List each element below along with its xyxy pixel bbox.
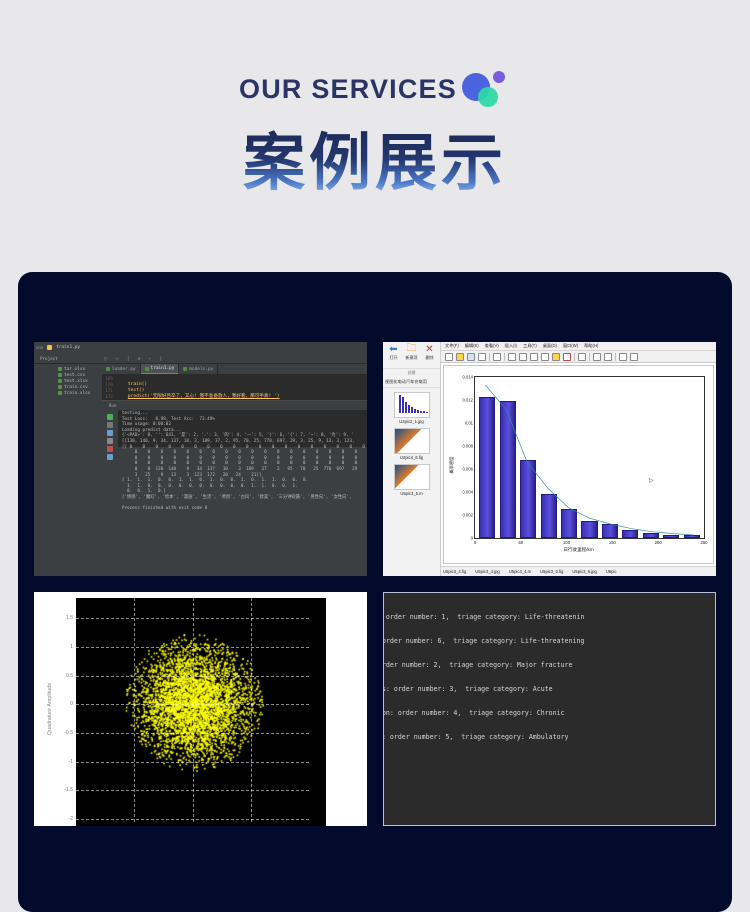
thumbnail-caption: U5pic3_5.m — [383, 491, 440, 496]
matlab-doc-thumb-icon — [394, 464, 430, 490]
zoom-in-icon[interactable] — [508, 353, 516, 361]
x-axis-label: 日行驶里程/km — [563, 547, 593, 553]
constellation-y-tick-label: -1.5 — [64, 787, 76, 793]
logo-green-circle-icon — [478, 87, 498, 107]
brush-icon[interactable] — [563, 353, 571, 361]
y-tick-label: 0.012 — [463, 398, 475, 403]
tab-loader-py[interactable]: loader.py — [102, 364, 141, 374]
pan-icon[interactable] — [530, 353, 538, 361]
x-tick-label: 0 — [474, 538, 476, 545]
property-editor-icon[interactable] — [630, 353, 638, 361]
grid-line-vertical — [193, 598, 194, 822]
terminal-line: rson: order number: 4, triage category: … — [383, 707, 715, 719]
tree-item-label: train.csv — [64, 385, 88, 390]
folder-icon: 🗀 — [404, 344, 419, 355]
menu-view[interactable]: 查看(V) — [485, 343, 499, 349]
menu-window[interactable]: 窗口(W) — [563, 343, 578, 349]
python-file-icon — [106, 367, 110, 371]
bar-chart-thumb-icon — [394, 392, 430, 418]
matlab-fig-thumb-icon — [394, 428, 430, 454]
mini-bars — [399, 395, 428, 413]
terminal-line: on: order number: 5, triage category: Am… — [383, 731, 715, 743]
file-strip-item[interactable]: U5pic4_4.m — [509, 569, 531, 574]
console-tab-label: Run — [109, 403, 117, 408]
menu-tools[interactable]: 工具(T) — [523, 343, 537, 349]
cursor-icon[interactable] — [493, 353, 501, 361]
terminal-line: h: order number: 1, triage category: Lif… — [383, 611, 715, 623]
terminal-line: order number: 2, triage category: Major … — [383, 659, 715, 671]
close-icon[interactable] — [107, 446, 113, 452]
terminal-line: t: — [383, 599, 715, 611]
ribbon-label: 新建项 — [406, 355, 418, 360]
toolbar-separator — [504, 353, 505, 361]
file-thumbnail[interactable]: U2pic2_1.jpg — [383, 392, 440, 424]
scatter-points — [76, 598, 326, 826]
python-file-icon — [145, 367, 149, 371]
tree-item-label: test.csv — [64, 373, 85, 378]
python-file-icon — [47, 345, 52, 350]
constellation-y-tick-label: -2 — [69, 816, 76, 822]
matlab-menubar[interactable]: 文件(F) 编辑(E) 查看(V) 插入(I) 工具(T) 桌面(D) 窗口(W… — [441, 342, 716, 351]
ide-window-title: train1.py — [56, 345, 80, 350]
code-lines[interactable]: train() test() predict('无限好吕卒了，又心! 我不准备放… — [116, 376, 280, 400]
terminal-line: t: — [383, 719, 715, 731]
python-file-icon — [183, 367, 187, 371]
matlab-figure-canvas[interactable]: 00.0020.0040.0060.0080.010.0120.014 0501… — [443, 365, 714, 564]
page-header: OUR SERVICES 案例展示 — [0, 0, 750, 197]
eyebrow-text: OUR SERVICES — [239, 66, 457, 112]
terminal-line: t: — [383, 623, 715, 635]
file-strip-item[interactable]: U5pic — [606, 569, 617, 574]
tab-label: models.py — [189, 367, 213, 372]
eyebrow-row: OUR SERVICES — [239, 66, 511, 112]
ide-body: tar.xlsx test.csv test.xlsx train.csv — [34, 364, 367, 411]
rotate-icon[interactable] — [541, 353, 549, 361]
terminal-output-text: t:h: order number: 1, triage category: L… — [383, 593, 715, 743]
x-tick-label: 50 — [518, 538, 523, 545]
constellation-y-tick-label: -1 — [69, 759, 76, 765]
file-strip-item[interactable]: U5pic3_4.fig — [443, 569, 466, 574]
ribbon-label: 打开 — [390, 355, 398, 360]
toolbar-separator — [574, 353, 575, 361]
ide-titlebar: one train1.py — [34, 342, 367, 353]
toolbar-separator — [615, 353, 616, 361]
tree-item-label: train.xlsx — [64, 391, 90, 396]
matlab-figure-window[interactable]: 文件(F) 编辑(E) 查看(V) 插入(I) 工具(T) 桌面(D) 窗口(W… — [441, 342, 716, 576]
thumbnail-caption: U2pic2_1.jpg — [383, 419, 440, 424]
matlab-ribbon[interactable]: ⬅ 打开 🗀 新建项 ✕ 删除 — [383, 342, 440, 368]
back-arrow-icon: ⬅ — [386, 344, 401, 355]
xlsx-file-icon — [58, 391, 62, 395]
y-tick-label: 0.014 — [463, 375, 475, 380]
data-cursor-icon[interactable] — [552, 353, 560, 361]
x-tick-label: 150 — [609, 538, 616, 545]
menu-edit[interactable]: 编辑(E) — [465, 343, 479, 349]
thumbnail-caption: U2pic4_6.fig — [383, 455, 440, 460]
console-wrap: testing... Test Loss: 0.98, Test Acc: 73… — [102, 410, 367, 512]
ribbon-delete-button[interactable]: ✕ 删除 — [422, 344, 437, 361]
logo-mark — [459, 66, 511, 112]
tree-item-label: test.xlsx — [64, 379, 88, 384]
insert-colorbar-icon[interactable] — [593, 353, 601, 361]
menu-help[interactable]: 帮助(H) — [584, 343, 598, 349]
ide-app-label: one — [36, 345, 43, 350]
constellation-plot-panel[interactable]: Quadrature Amplitude 1.510.50-0.5-1-1.5-… — [34, 592, 367, 826]
file-strip-item[interactable]: U5pic3_4.jpg — [475, 569, 499, 574]
y-tick-label: 0.006 — [463, 467, 475, 472]
print-icon[interactable] — [478, 353, 486, 361]
toolbar-separator — [589, 353, 590, 361]
x-tick-label: 250 — [701, 538, 708, 545]
stop-icon[interactable] — [107, 422, 113, 428]
y-tick-label: 0.008 — [463, 444, 475, 449]
bar-chart-axes: 00.0020.0040.0060.0080.010.0120.014 0501… — [474, 376, 705, 539]
constellation-y-tick-label: 1.5 — [66, 615, 76, 621]
project-file-tree[interactable]: tar.xlsx test.csv test.xlsx train.csv — [34, 364, 102, 411]
toolbar-separator — [489, 353, 490, 361]
ide-toolbar[interactable]: Project ⬡ ✛ | ⊗ ⊦ | — [34, 353, 367, 364]
menu-insert[interactable]: 插入(I) — [505, 343, 517, 349]
tab-models-py[interactable]: models.py — [179, 364, 218, 374]
logo-small-circle-icon — [493, 71, 505, 83]
project-label: Project — [40, 356, 58, 361]
zoom-out-icon[interactable] — [519, 353, 527, 361]
help-icon[interactable] — [107, 454, 113, 460]
constellation-axes: 1.510.50-0.5-1-1.5-2 — [76, 598, 309, 822]
matlab-toolbar[interactable] — [441, 351, 716, 363]
rerun-icon[interactable] — [107, 414, 113, 420]
figure-palette-icon[interactable] — [619, 353, 627, 361]
matlab-path-bar[interactable]: 视图化电动汽车充电用 — [383, 377, 440, 388]
matlab-file-strip[interactable]: U5pic3_4.fig U5pic3_4.jpg U5pic4_4.m U5p… — [441, 566, 716, 576]
filter-icon[interactable] — [107, 430, 113, 436]
menu-desktop[interactable]: 桌面(D) — [543, 343, 557, 349]
matlab-sidebar[interactable]: ⬅ 打开 🗀 新建项 ✕ 删除 创建 视图化电动汽车充电用 — [383, 342, 441, 576]
constellation-y-axis-label: Quadrature Amplitude — [47, 683, 53, 735]
y-tick-label: 0.01 — [465, 421, 475, 426]
showcase-grid: one train1.py Project ⬡ ✛ | ⊗ ⊦ | tar.xl… — [34, 342, 716, 826]
y-axis-label: 概率密度 — [449, 456, 455, 473]
console-gutter-toolbar[interactable] — [102, 410, 118, 512]
y-tick-label: 0.002 — [463, 513, 475, 518]
xlsx-file-icon — [58, 367, 62, 371]
constellation-y-tick-label: -0.5 — [64, 730, 76, 736]
editor-tab-strip[interactable]: loader.py train1.py models.py — [102, 364, 367, 374]
ribbon-open-button[interactable]: ⬅ 打开 — [386, 344, 401, 361]
terminal-line: nes: order number: 3, triage category: A… — [383, 683, 715, 695]
terminal-line: t: — [383, 647, 715, 659]
open-icon[interactable] — [456, 353, 464, 361]
file-strip-item[interactable]: U5pic3_6.jpg — [572, 569, 596, 574]
ribbon-section-label: 创建 — [383, 368, 440, 377]
y-tick-label: 0.004 — [463, 490, 475, 495]
save-icon[interactable] — [467, 353, 475, 361]
csv-file-icon — [58, 385, 62, 389]
ribbon-new-button[interactable]: 🗀 新建项 — [404, 344, 419, 361]
line-number-gutter: 169 170 171 172 — [102, 376, 116, 400]
terminal-output-panel[interactable]: t:h: order number: 1, triage category: L… — [383, 592, 716, 826]
file-strip-item[interactable]: U5pic3_6.fig — [540, 569, 563, 574]
ribbon-label: 删除 — [426, 355, 434, 360]
new-figure-icon[interactable] — [445, 353, 453, 361]
delete-icon: ✕ — [422, 344, 437, 355]
mouse-cursor-icon: ▷ — [649, 477, 654, 484]
terminal-line: : order number: 6, triage category: Life… — [383, 635, 715, 647]
tab-label: train1.py — [151, 366, 175, 371]
x-tick-label: 100 — [563, 538, 570, 545]
showcase-card: one train1.py Project ⬡ ✛ | ⊗ ⊦ | tar.xl… — [18, 272, 732, 912]
tree-item[interactable]: train.xlsx — [34, 390, 102, 396]
file-thumbnail[interactable]: U2pic4_6.fig — [383, 428, 440, 460]
tab-train1-py[interactable]: train1.py — [141, 364, 180, 374]
terminal-line: t: — [383, 695, 715, 707]
matlab-figure-panel[interactable]: ⬅ 打开 🗀 新建项 ✕ 删除 创建 视图化电动汽车充电用 — [383, 342, 716, 576]
plot-browser-icon[interactable] — [604, 353, 612, 361]
fit-curve-line — [475, 377, 704, 538]
xlsx-file-icon — [58, 379, 62, 383]
terminal-line: t: — [383, 671, 715, 683]
print-icon[interactable] — [107, 438, 113, 444]
console-output-text: testing... Test Loss: 0.98, Test Acc: 73… — [118, 410, 367, 512]
page-title: 案例展示 — [0, 128, 750, 197]
insert-legend-icon[interactable] — [578, 353, 586, 361]
code-area[interactable]: 169 170 171 172 train() test() predict('… — [102, 374, 367, 400]
grid-line-vertical — [134, 598, 135, 822]
ide-run-console[interactable]: Run testing... Test Loss: — [102, 400, 367, 447]
ide-screenshot-panel[interactable]: one train1.py Project ⬡ ✛ | ⊗ ⊦ | tar.xl… — [34, 342, 367, 576]
x-tick-label: 200 — [655, 538, 662, 545]
constellation-y-tick-label: 0.5 — [66, 673, 76, 679]
file-thumbnail[interactable]: U5pic3_5.m — [383, 464, 440, 496]
tab-label: loader.py — [112, 367, 136, 372]
tree-item-label: tar.xlsx — [64, 367, 85, 372]
grid-line-vertical — [251, 598, 252, 822]
menu-file[interactable]: 文件(F) — [445, 343, 459, 349]
toolbar-icons[interactable]: ⬡ ✛ | ⊗ ⊦ | — [104, 356, 166, 361]
ide-editor[interactable]: loader.py train1.py models.py — [102, 364, 367, 411]
console-tab-strip[interactable]: Run — [102, 401, 367, 410]
csv-file-icon — [58, 373, 62, 377]
